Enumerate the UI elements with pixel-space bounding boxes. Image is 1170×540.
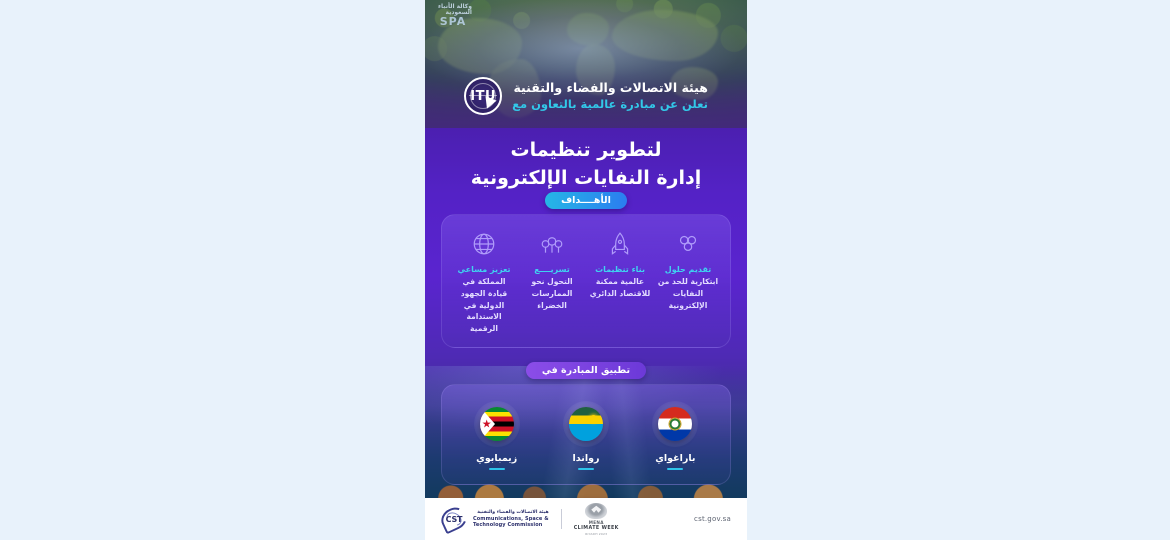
flag-halo	[563, 401, 609, 447]
objective-desc: ابتكارية للحد من النفايات الإلكترونية	[656, 276, 720, 311]
announcement-line-1: هيئة الاتصالات والفضاء والتقنية	[512, 80, 708, 97]
country-item-zimbabwe: زيمبابوي	[452, 401, 540, 470]
trees-icon	[539, 231, 565, 257]
objective-item-trees: تسريــــع التحول نحو الممارسات الخضراء	[520, 231, 584, 335]
mena-climate-week-line-2: CLIMATE WEEK	[574, 526, 619, 531]
country-underline	[667, 468, 683, 470]
mena-climate-week-emblem-icon	[585, 503, 607, 519]
objective-title: تعزيز مساعي	[458, 264, 511, 276]
zimbabwe-flag	[480, 407, 514, 441]
objective-desc: التحول نحو الممارسات الخضراء	[520, 276, 584, 311]
country-item-paraguay: باراغواي	[631, 401, 719, 470]
mena-climate-week-line-1: MENA	[589, 520, 604, 525]
footer-website-url[interactable]: cst.gov.sa	[694, 515, 731, 523]
objective-item-innovation: تقديم حلول ابتكارية للحد من النفايات الإ…	[656, 231, 720, 335]
cst-logo-label: CST	[446, 515, 463, 524]
objective-desc: عالمية ممكنة للاقتصاد الدائري	[588, 276, 652, 300]
countries-list: زيمبابوي رواندا	[452, 401, 720, 470]
objectives-badge: الأهــــداف	[545, 192, 627, 209]
rocket-icon	[607, 231, 633, 257]
poster-footer: CST هيئة الاتصالات والفضاء والتقنية Comm…	[425, 498, 747, 540]
footer-divider	[561, 509, 562, 529]
countries-badge: تطبيق المبادرة في	[526, 362, 646, 379]
objectives-list: تعزيز مساعي المملكة في قيادة الجهود الدو…	[452, 231, 720, 335]
country-name: رواندا	[573, 453, 600, 464]
mena-climate-week-line-3: RIYADH 2023	[585, 532, 607, 536]
poster-content: لتطوير تنظيمات إدارة النفايات الإلكتروني…	[425, 128, 747, 498]
flag-halo	[474, 401, 520, 447]
country-underline	[489, 468, 505, 470]
page-title: لتطوير تنظيمات إدارة النفايات الإلكتروني…	[441, 128, 731, 192]
flag-halo	[652, 401, 698, 447]
itu-logo-label: ITU	[470, 89, 496, 104]
country-item-rwanda: رواندا	[542, 401, 630, 470]
spa-watermark: وكالة الأنباء السعودية SPA	[434, 3, 472, 27]
page-title-line-2: إدارة النفايات الإلكترونية	[441, 165, 731, 193]
country-name: زيمبابوي	[476, 453, 517, 464]
spa-watermark-arabic: وكالة الأنباء السعودية	[434, 4, 472, 16]
spa-watermark-latin: SPA	[440, 16, 467, 27]
page-root: وكالة الأنباء السعودية SPA ITU هيئة الات…	[0, 0, 1170, 540]
page-title-line-1: لتطوير تنظيمات	[441, 137, 731, 165]
paraguay-flag	[658, 407, 692, 441]
cst-name-arabic: هيئة الاتصالات والفضاء والتقنية	[473, 510, 549, 516]
globe-icon	[471, 231, 497, 257]
mena-climate-week-logo: MENA CLIMATE WEEK RIYADH 2023	[574, 503, 619, 536]
objective-title: تقديم حلول	[665, 264, 711, 276]
announcement-text: هيئة الاتصالات والفضاء والتقنية تعلن عن …	[512, 80, 708, 112]
infographic-poster: وكالة الأنباء السعودية SPA ITU هيئة الات…	[425, 0, 747, 540]
itu-logo-icon: ITU	[464, 77, 502, 115]
country-name: باراغواي	[655, 453, 695, 464]
cst-logo-icon: CST	[441, 508, 467, 530]
objective-desc: المملكة في قيادة الجهود الدولية في الاست…	[452, 276, 516, 335]
poster-body: لتطوير تنظيمات إدارة النفايات الإلكتروني…	[425, 128, 747, 498]
objective-item-globe: تعزيز مساعي المملكة في قيادة الجهود الدو…	[452, 231, 516, 335]
objectives-card: تعزيز مساعي المملكة في قيادة الجهود الدو…	[441, 214, 731, 348]
objective-item-rocket: بناء تنظيمات عالمية ممكنة للاقتصاد الدائ…	[588, 231, 652, 335]
objective-title: تسريــــع	[534, 264, 570, 276]
cst-name-english-line-2: Technology Commission	[473, 522, 549, 528]
rwanda-flag	[569, 407, 603, 441]
countries-card: زيمبابوي رواندا	[441, 384, 731, 485]
objective-title: بناء تنظيمات	[595, 264, 645, 276]
countries-badge-row: تطبيق المبادرة في	[441, 362, 731, 379]
country-underline	[578, 468, 594, 470]
hero-world-map-banner: وكالة الأنباء السعودية SPA ITU هيئة الات…	[425, 0, 747, 128]
announcement-line-2: تعلن عن مبادرة عالمية بالتعاون مع	[512, 97, 708, 113]
cst-names: هيئة الاتصالات والفضاء والتقنية Communic…	[473, 510, 549, 528]
cst-logo-block: CST هيئة الاتصالات والفضاء والتقنية Comm…	[441, 508, 549, 530]
announcement-row: ITU هيئة الاتصالات والفضاء والتقنية تعلن…	[425, 72, 747, 120]
objectives-badge-row: الأهــــداف	[441, 192, 731, 209]
cst-name-english-line-1: Communications, Space &	[473, 516, 549, 522]
innovation-bulb-icon	[675, 231, 701, 257]
